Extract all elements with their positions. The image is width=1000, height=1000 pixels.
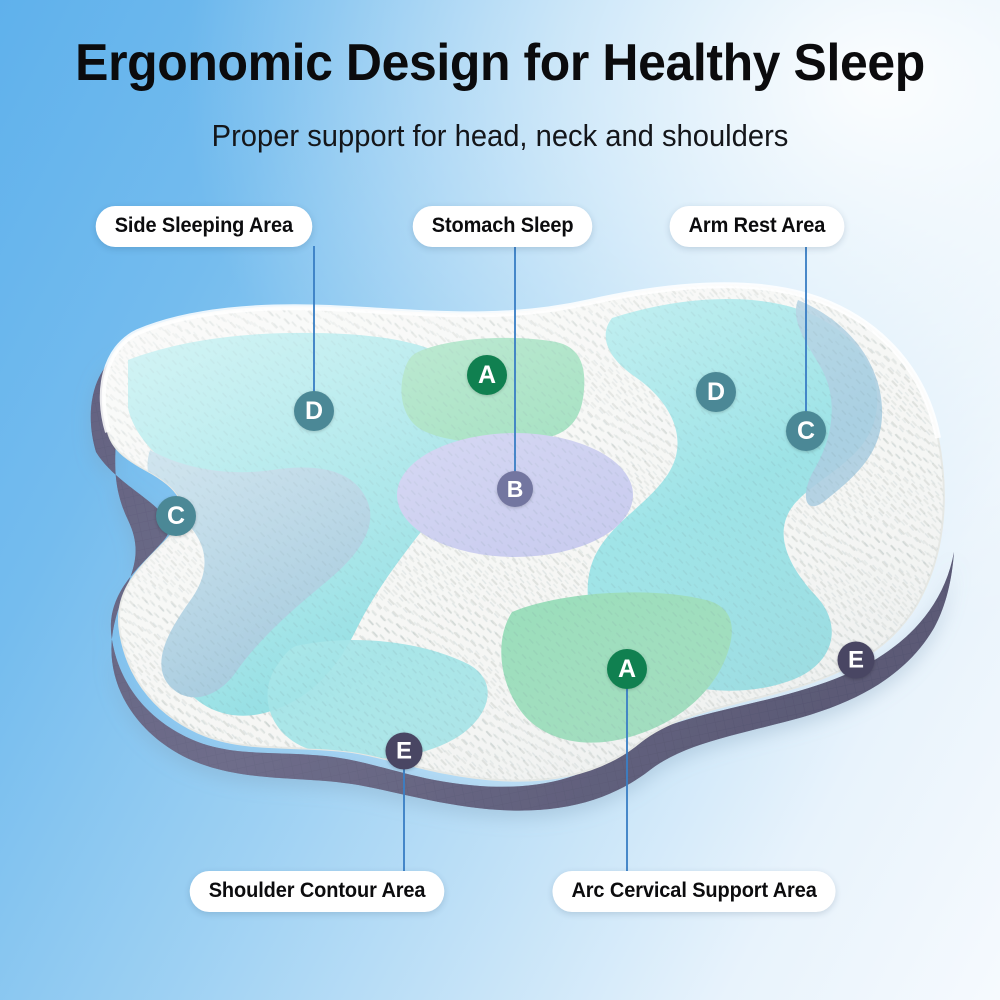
zone-marker-a-stomach[interactable]: A [467, 355, 507, 395]
callout-stomach-sleep[interactable]: Stomach Sleep [413, 206, 593, 247]
zone-marker-b-head[interactable]: B [497, 471, 533, 507]
leader-line-arm-rest-area [805, 246, 807, 414]
zone-marker-a-cervical[interactable]: A [607, 649, 647, 689]
zone-marker-e-left[interactable]: E [386, 733, 423, 770]
zone-marker-c-right[interactable]: C [786, 411, 826, 451]
callout-arm-rest-area[interactable]: Arm Rest Area [670, 206, 845, 247]
infographic-canvas: Ergonomic Design for Healthy Sleep Prope… [0, 0, 1000, 1000]
pillow-zones [80, 270, 980, 810]
callout-shoulder-contour-area[interactable]: Shoulder Contour Area [190, 871, 445, 912]
zone-marker-d-left[interactable]: D [294, 391, 334, 431]
callout-arc-cervical-support-area[interactable]: Arc Cervical Support Area [552, 871, 835, 912]
leader-line-shoulder-contour-area [403, 766, 405, 871]
zone-marker-d-right[interactable]: D [696, 372, 736, 412]
callout-side-sleeping-area[interactable]: Side Sleeping Area [96, 206, 312, 247]
leader-line-side-sleeping-area [313, 246, 315, 394]
zone-marker-e-right[interactable]: E [838, 642, 875, 679]
pillow-cover [80, 270, 980, 810]
leader-line-stomach-sleep [514, 246, 516, 472]
zone-marker-c-left[interactable]: C [156, 496, 196, 536]
leader-line-arc-cervical-support [626, 685, 628, 871]
